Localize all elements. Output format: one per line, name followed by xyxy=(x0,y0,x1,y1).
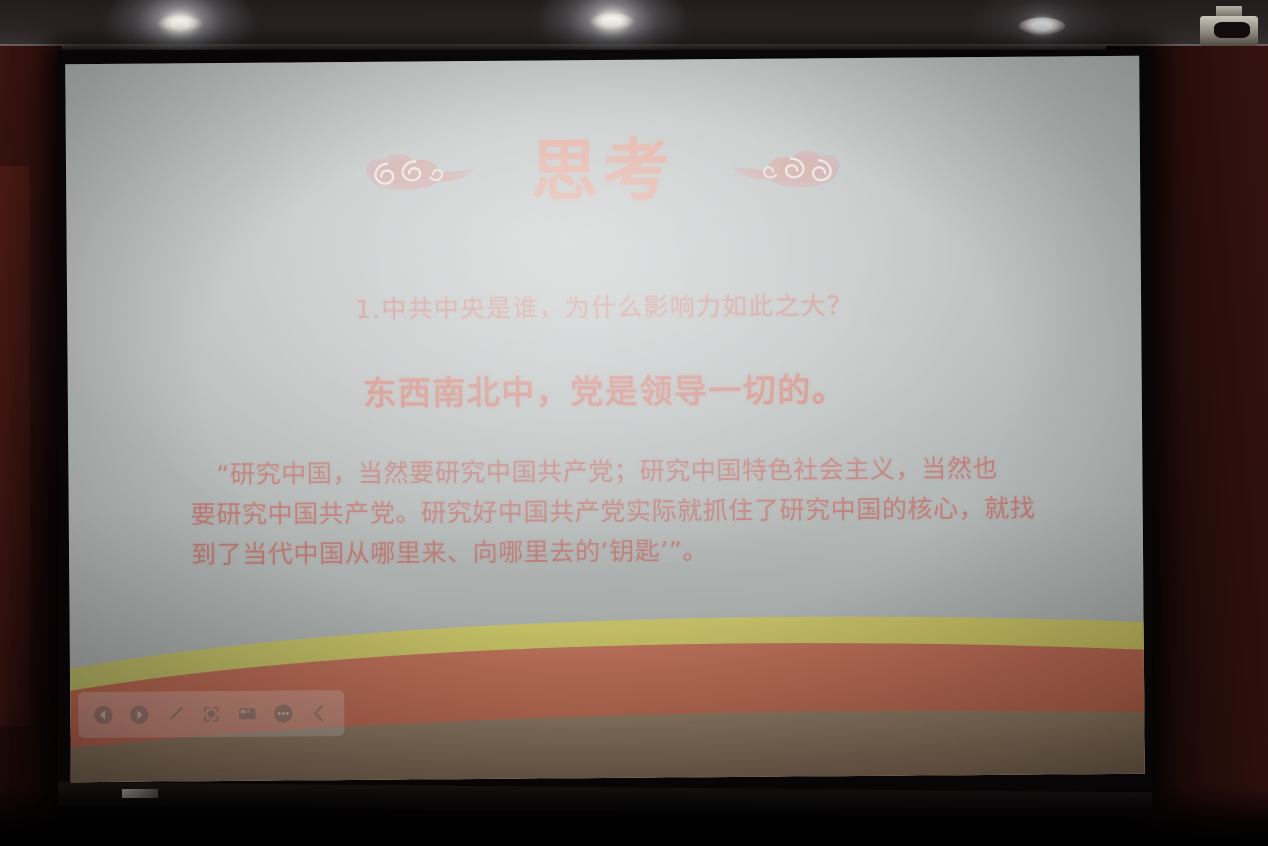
left-wall xyxy=(0,46,62,846)
cloud-ornament-left-icon xyxy=(347,145,479,200)
slide-title: 思考 xyxy=(531,137,676,205)
quote-line-1: “研究中国，当然要研究中国共产党；研究中国特色社会主义，当然也 xyxy=(190,449,1030,496)
left-wall-panel xyxy=(0,166,30,726)
downlight-bulb xyxy=(602,17,622,27)
projected-slide: 思考 1.中共中央是谁，为什么影响力如此之大？ xyxy=(65,56,1145,782)
pen-icon[interactable] xyxy=(164,703,186,725)
projector-lens-housing xyxy=(1214,22,1250,38)
slide-grid-icon[interactable] xyxy=(236,703,258,725)
cloud-ornament-right-icon xyxy=(727,142,859,197)
floor-shadow xyxy=(0,786,1268,846)
more-options-icon[interactable] xyxy=(272,702,294,724)
zoom-spotlight-icon[interactable] xyxy=(200,703,222,725)
previous-slide-icon[interactable] xyxy=(92,704,114,726)
room-photo-scene: 思考 1.中共中央是谁，为什么影响力如此之大？ xyxy=(0,0,1268,846)
collapse-chevron-icon[interactable] xyxy=(308,702,330,724)
quote-line-2: 要研究中国共产党。研究好中国共产党实际就抓住了研究中国的核心，就找 xyxy=(191,489,1031,536)
headline: 东西南北中，党是领导一切的。 xyxy=(68,361,1142,417)
downlight-bulb xyxy=(1032,21,1052,31)
bottom-wave-decoration xyxy=(65,593,1145,782)
slide-title-row: 思考 xyxy=(66,134,1140,209)
quote-line-3: 到了当代中国从哪里来、向哪里去的‘钥匙’”。 xyxy=(191,529,1031,576)
downlight-bulb xyxy=(170,19,190,29)
ceiling-projector xyxy=(1194,6,1260,50)
presentation-toolbar[interactable] xyxy=(78,690,344,738)
question-line: 1.中共中央是谁，为什么影响力如此之大？ xyxy=(67,284,1141,328)
quote-block: “研究中国，当然要研究中国共产党；研究中国特色社会主义，当然也 要研究中国共产党… xyxy=(190,449,1031,576)
next-slide-icon[interactable] xyxy=(128,704,150,726)
slide-content: 思考 1.中共中央是谁，为什么影响力如此之大？ xyxy=(65,56,1145,782)
